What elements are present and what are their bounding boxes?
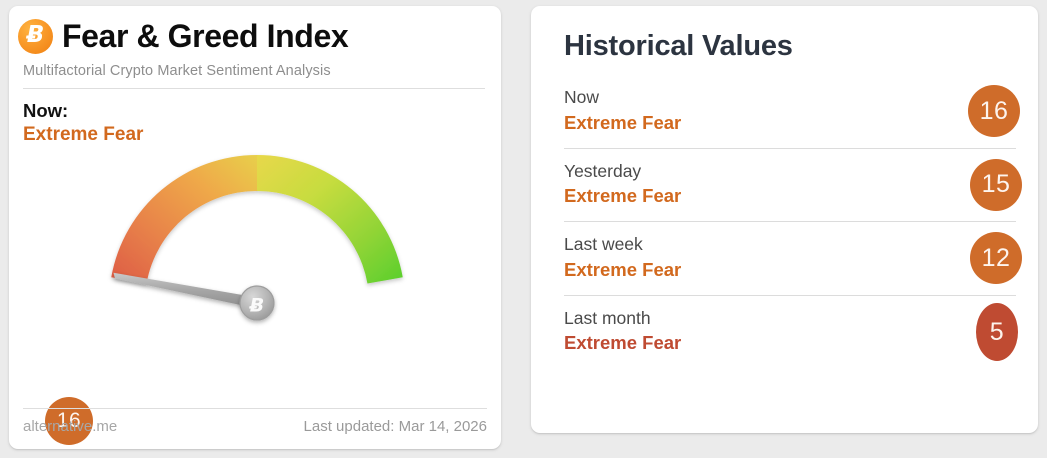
gauge-card-header: Ƀ Fear & Greed Index [9,6,501,55]
history-classification: Extreme Fear [564,184,1016,209]
page-subtitle: Multifactorial Crypto Market Sentiment A… [9,55,501,79]
gauge-card-footer: alternative.me Last updated: Mar 14, 202… [23,408,487,435]
history-classification: Extreme Fear [564,258,1016,283]
history-period: Now [564,86,1016,110]
page-root: Ƀ Fear & Greed Index Multifactorial Cryp… [0,0,1047,458]
list-item: Last week Extreme Fear 12 [564,221,1016,295]
last-updated-text: Last updated: Mar 14, 2026 [304,418,487,435]
gauge-needle [114,273,258,309]
history-period: Last month [564,307,1016,331]
history-classification: Extreme Fear [564,331,1016,356]
historical-values-title: Historical Values [531,6,1038,63]
now-block: Now: Extreme Fear [9,89,501,147]
gauge-arc [111,155,403,284]
history-value-badge: 16 [968,85,1020,137]
gauge-chart: Ƀ 16 [9,145,501,385]
history-period: Last week [564,233,1016,257]
now-classification: Extreme Fear [23,123,501,147]
list-item: Yesterday Extreme Fear 15 [564,148,1016,222]
history-value-badge: 5 [976,303,1018,361]
history-classification: Extreme Fear [564,111,1016,136]
historical-values-card: Historical Values Now Extreme Fear 16 Ye… [531,6,1038,433]
historical-values-list: Now Extreme Fear 16 Yesterday Extreme Fe… [531,63,1038,368]
list-item: Last month Extreme Fear 5 [564,295,1016,369]
gauge-hub: Ƀ [240,286,274,320]
history-period: Yesterday [564,160,1016,184]
history-value-badge: 15 [970,159,1022,211]
list-item: Now Extreme Fear 16 [564,75,1016,148]
source-link[interactable]: alternative.me [23,418,117,435]
bitcoin-icon: Ƀ [18,19,53,54]
gauge-svg: Ƀ [9,145,501,385]
page-title: Fear & Greed Index [62,18,348,55]
now-label: Now: [23,99,501,123]
bitcoin-icon-glyph: Ƀ [27,24,45,47]
fear-greed-gauge-card: Ƀ Fear & Greed Index Multifactorial Cryp… [9,6,501,449]
history-value-badge: 12 [970,232,1022,284]
bitcoin-hub-icon-glyph: Ƀ [249,294,264,316]
footer-divider [23,408,487,409]
